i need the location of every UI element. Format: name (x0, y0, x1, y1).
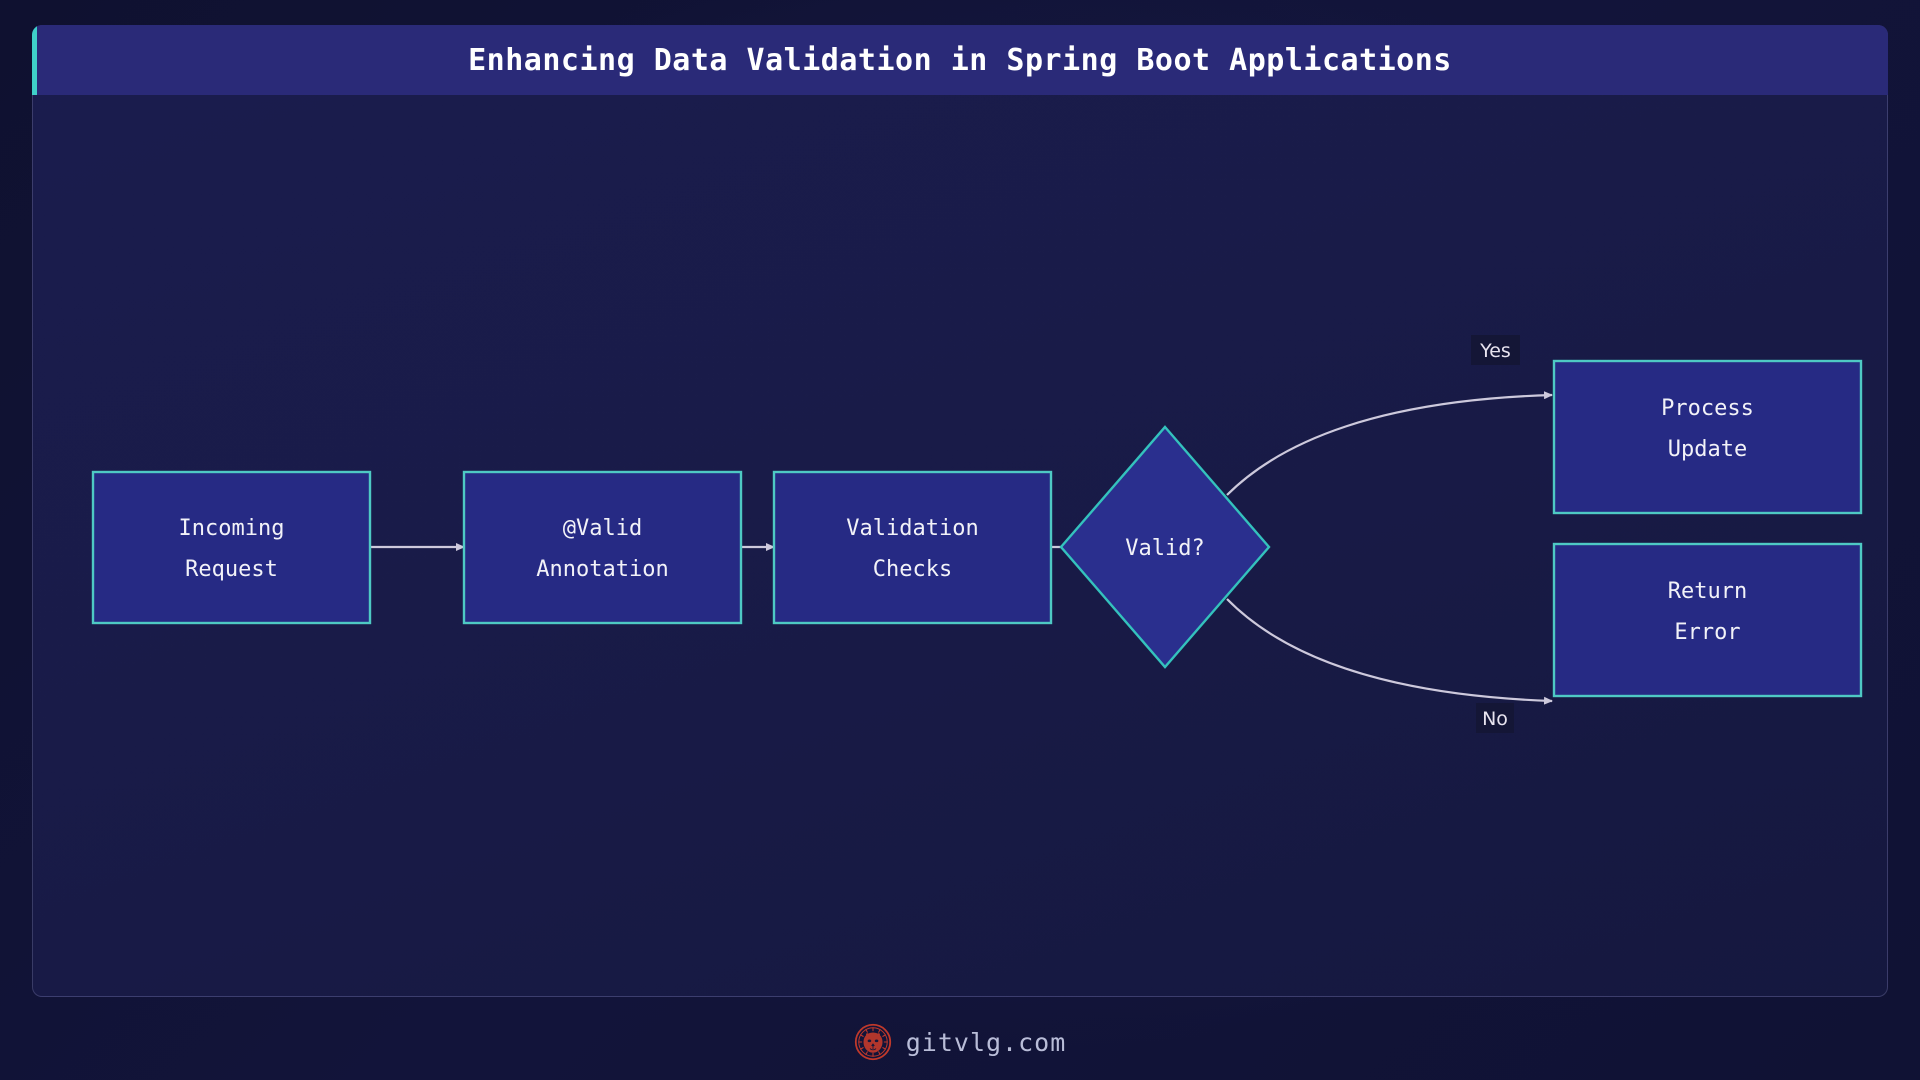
node-valid-annotation[interactable]: @Valid Annotation (464, 472, 741, 623)
node-process-update-line1: Process (1661, 396, 1754, 421)
edge-decision-to-process (1227, 395, 1552, 495)
node-decision-valid[interactable]: Valid? (1061, 427, 1269, 667)
lion-emblem-icon (854, 1023, 892, 1061)
node-incoming-request-line2: Request (185, 557, 278, 582)
footer-site-label: gitvlg.com (906, 1028, 1067, 1057)
edge-decision-to-error (1227, 599, 1552, 701)
node-validation-checks-line2: Checks (873, 557, 952, 582)
node-process-update[interactable]: Process Update (1554, 361, 1861, 513)
node-validation-checks-line1: Validation (846, 516, 978, 541)
node-valid-annotation-line1: @Valid (563, 516, 642, 541)
node-return-error-line1: Return (1668, 579, 1747, 604)
node-decision-valid-label: Valid? (1125, 536, 1204, 561)
edge-label-no-text: No (1482, 708, 1508, 730)
node-validation-checks[interactable]: Validation Checks (774, 472, 1051, 623)
edge-label-yes: Yes (1471, 335, 1520, 365)
node-valid-annotation-line2: Annotation (536, 557, 668, 582)
edge-label-yes-text: Yes (1479, 340, 1511, 362)
node-process-update-line2: Update (1668, 437, 1747, 462)
node-incoming-request[interactable]: Incoming Request (93, 472, 370, 623)
header-accent-bar (32, 25, 37, 95)
footer: gitvlg.com (0, 1012, 1920, 1072)
edge-label-no: No (1476, 703, 1514, 733)
flowchart-canvas: Incoming Request @Valid Annotation Valid… (32, 95, 1888, 997)
node-incoming-request-line1: Incoming (179, 516, 285, 541)
node-return-error-line2: Error (1674, 620, 1740, 645)
node-return-error[interactable]: Return Error (1554, 544, 1861, 696)
header-bar: Enhancing Data Validation in Spring Boot… (32, 25, 1888, 95)
page-title: Enhancing Data Validation in Spring Boot… (468, 43, 1452, 78)
